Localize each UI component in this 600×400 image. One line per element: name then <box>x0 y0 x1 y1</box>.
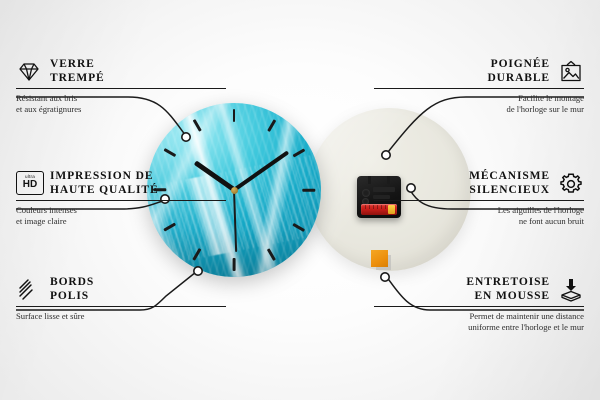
clock-hand-minute <box>233 151 289 192</box>
feature-title: BORDS POLIS <box>50 276 94 303</box>
feature-divider <box>16 306 226 307</box>
feature-description: Résistant aux bris et aux égratignures <box>16 93 226 114</box>
feature-divider <box>374 306 584 307</box>
clock-tick <box>292 223 305 232</box>
feature-title-line1: ENTRETOISE <box>466 276 550 290</box>
feature-title-line2: EN MOUSSE <box>466 290 550 304</box>
ultra-hd-main-text: HD <box>23 180 37 190</box>
feature-description: Permet de maintenir une distance uniform… <box>374 311 584 332</box>
feature-title-line1: MÉCANISME <box>469 170 550 184</box>
feature-title: VERRE TREMPÉ <box>50 58 105 85</box>
feature-title-line2: TREMPÉ <box>50 72 105 86</box>
clock-tick <box>163 148 176 157</box>
mechanism-dial-minute <box>362 198 369 205</box>
feature-header: BORDS POLIS <box>16 276 226 303</box>
feature-title-line1: BORDS <box>50 276 94 290</box>
foam-spacer <box>371 250 388 267</box>
feature-title: MÉCANISME SILENCIEUX <box>469 170 550 197</box>
feature-desc-line2: et aux égratignures <box>16 104 226 115</box>
clock-tick <box>192 248 201 261</box>
feature-desc-line2: ne font aucun bruit <box>374 216 584 227</box>
feature-title: ENTRETOISE EN MOUSSE <box>466 276 550 303</box>
feature-verre-trempe: VERRE TREMPÉ Résistant aux bris et aux é… <box>16 58 226 115</box>
feature-title-line2: HAUTE QUALITÉ <box>50 184 159 198</box>
feature-poignee-durable: POIGNÉE DURABLE Facilite le montage de l… <box>374 58 584 115</box>
feature-desc-line1: Surface lisse et sûre <box>16 311 226 322</box>
feature-mecanisme-silencieux: MÉCANISME SILENCIEUX Les aiguilles de l'… <box>374 170 584 227</box>
feature-title-line2: SILENCIEUX <box>469 184 550 198</box>
clock-tick <box>267 119 276 132</box>
feature-desc-line2: uniforme entre l'horloge et le mur <box>374 322 584 333</box>
feature-title-line1: VERRE <box>50 58 105 72</box>
feature-bords-polis: BORDS POLIS Surface lisse et sûre <box>16 276 226 322</box>
picture-hanger-icon <box>558 59 584 85</box>
feature-description: Facilite le montage de l'horloge sur le … <box>374 93 584 114</box>
polished-edges-icon <box>16 277 42 303</box>
feature-header: ultra HD IMPRESSION DE HAUTE QUALITÉ <box>16 170 226 197</box>
mechanism-dial-hour <box>362 189 370 197</box>
feature-desc-line2: et image claire <box>16 216 226 227</box>
infographic-canvas: VERRE TREMPÉ Résistant aux bris et aux é… <box>0 0 600 400</box>
callout-dot-verre <box>182 133 190 141</box>
feature-description: Surface lisse et sûre <box>16 311 226 322</box>
feature-header: ENTRETOISE EN MOUSSE <box>374 276 584 303</box>
feature-impression-haute-qualite: ultra HD IMPRESSION DE HAUTE QUALITÉ Cou… <box>16 170 226 227</box>
feature-desc-line1: Les aiguilles de l'horloge <box>374 205 584 216</box>
callout-dot-bords <box>194 267 202 275</box>
feature-description: Les aiguilles de l'horloge ne font aucun… <box>374 205 584 226</box>
feature-title-line2: POLIS <box>50 290 94 304</box>
clock-tick <box>233 258 236 271</box>
feature-divider <box>374 200 584 201</box>
feature-divider <box>374 88 584 89</box>
clock-hand-second <box>233 190 237 252</box>
gear-icon <box>558 171 584 197</box>
feature-title-line1: IMPRESSION DE <box>50 170 159 184</box>
feature-desc-line1: Résistant aux bris <box>16 93 226 104</box>
clock-tick <box>233 109 236 122</box>
feature-title: IMPRESSION DE HAUTE QUALITÉ <box>50 170 159 197</box>
ultra-hd-badge: ultra HD <box>16 171 44 195</box>
feature-title: POIGNÉE DURABLE <box>487 58 550 85</box>
feature-divider <box>16 88 226 89</box>
feature-divider <box>16 200 226 201</box>
feature-title-line2: DURABLE <box>487 72 550 86</box>
clock-tick <box>192 119 201 132</box>
ultra-hd-icon: ultra HD <box>16 171 42 197</box>
clock-tick <box>292 148 305 157</box>
feature-description: Couleurs intenses et image claire <box>16 205 226 226</box>
clock-tick <box>302 189 315 192</box>
diamond-icon <box>16 59 42 85</box>
feature-header: MÉCANISME SILENCIEUX <box>374 170 584 197</box>
feature-entretoise-en-mousse: ENTRETOISE EN MOUSSE Permet de maintenir… <box>374 276 584 333</box>
callout-dot-poignee <box>382 151 390 159</box>
feature-desc-line1: Facilite le montage <box>374 93 584 104</box>
clock-tick <box>267 248 276 261</box>
feature-title-line1: POIGNÉE <box>487 58 550 72</box>
feature-header: POIGNÉE DURABLE <box>374 58 584 85</box>
clock-hand-cap <box>231 187 238 194</box>
feature-desc-line1: Couleurs intenses <box>16 205 226 216</box>
feature-desc-line1: Permet de maintenir une distance <box>374 311 584 322</box>
feature-desc-line2: de l'horloge sur le mur <box>374 104 584 115</box>
foam-spacer-icon <box>558 277 584 303</box>
feature-header: VERRE TREMPÉ <box>16 58 226 85</box>
